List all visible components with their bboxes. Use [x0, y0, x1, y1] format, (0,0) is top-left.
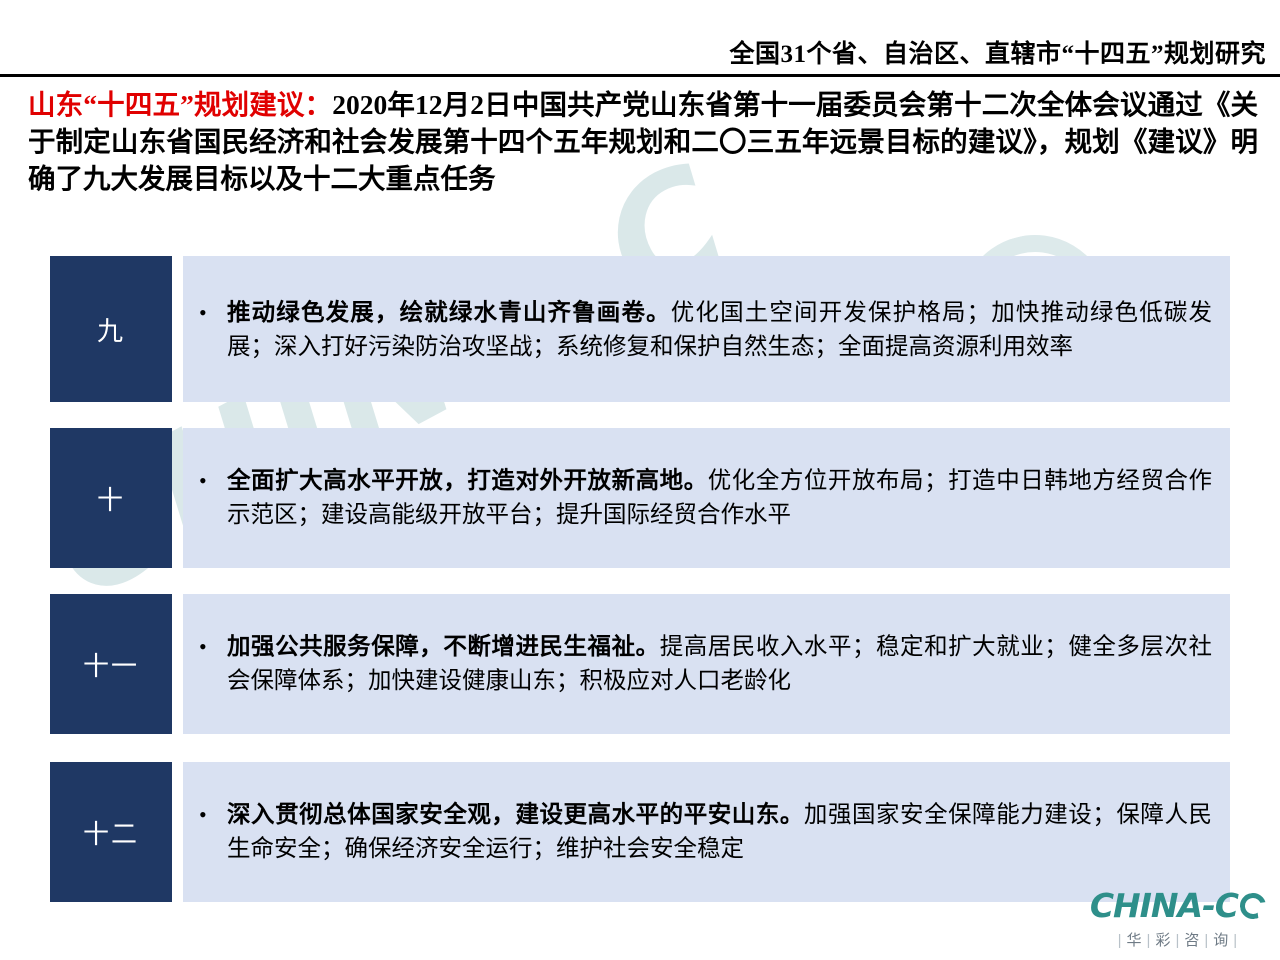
- logo-sub-3: 咨: [1184, 932, 1200, 949]
- row-text: 全面扩大高水平开放，打造对外开放新高地。优化全方位开放布局；打造中日韩地方经贸合…: [227, 464, 1212, 532]
- bullet-icon: •: [193, 798, 227, 832]
- row-content: • 推动绿色发展，绘就绿水青山齐鲁画卷。优化国土空间开发保护格局；加快推动绿色低…: [183, 256, 1230, 402]
- row-content: • 加强公共服务保障，不断增进民生福祉。提高居民收入水平；稳定和扩大就业；健全多…: [183, 594, 1230, 734]
- row-number-badge: 十一: [50, 594, 172, 734]
- row-content: • 深入贯彻总体国家安全观，建设更高水平的平安山东。加强国家安全保障能力建设；保…: [183, 762, 1230, 902]
- page-title-highlight: 山东“十四五”规划建议：: [28, 89, 332, 120]
- list-item[interactable]: 九 • 推动绿色发展，绘就绿水青山齐鲁画卷。优化国土空间开发保护格局；加快推动绿…: [50, 256, 1230, 402]
- bullet-icon: •: [193, 296, 227, 330]
- list-item[interactable]: 十 • 全面扩大高水平开放，打造对外开放新高地。优化全方位开放布局；打造中日韩地…: [50, 428, 1230, 568]
- bullet-icon: •: [193, 464, 227, 498]
- list-item[interactable]: 十一 • 加强公共服务保障，不断增进民生福祉。提高居民收入水平；稳定和扩大就业；…: [50, 594, 1230, 734]
- row-text: 深入贯彻总体国家安全观，建设更高水平的平安山东。加强国家安全保障能力建设；保障人…: [227, 798, 1212, 866]
- logo-sub-2: 彩: [1155, 932, 1171, 949]
- logo-ring-icon: [1238, 891, 1267, 920]
- row-text: 推动绿色发展，绘就绿水青山齐鲁画卷。优化国土空间开发保护格局；加快推动绿色低碳发…: [227, 296, 1212, 364]
- company-logo: CHINA-C |华|彩|咨|询|: [1090, 889, 1266, 950]
- row-heading: 推动绿色发展，绘就绿水青山齐鲁画卷。: [227, 300, 671, 326]
- header-divider: [0, 74, 1280, 77]
- logo-text: CHINA-C: [1090, 889, 1238, 922]
- row-text: 加强公共服务保障，不断增进民生福祉。提高居民收入水平；稳定和扩大就业；健全多层次…: [227, 630, 1212, 698]
- header-title: 全国31个省、自治区、直辖市“十四五”规划研究: [729, 34, 1266, 70]
- row-number-badge: 九: [50, 256, 172, 402]
- slide: CHINA-C 全国31个省、自治区、直辖市“十四五”规划研究 山东“十四五”规…: [0, 0, 1280, 960]
- row-number-badge: 十二: [50, 762, 172, 902]
- row-heading: 加强公共服务保障，不断增进民生福祉。: [227, 634, 660, 660]
- row-content: • 全面扩大高水平开放，打造对外开放新高地。优化全方位开放布局；打造中日韩地方经…: [183, 428, 1230, 568]
- header: 全国31个省、自治区、直辖市“十四五”规划研究: [729, 34, 1266, 70]
- logo-sub-1: 华: [1127, 932, 1143, 949]
- row-heading: 全面扩大高水平开放，打造对外开放新高地。: [227, 468, 708, 494]
- logo-wordmark: CHINA-C: [1090, 889, 1266, 922]
- bullet-icon: •: [193, 630, 227, 664]
- logo-sub-4: 询: [1213, 932, 1229, 949]
- logo-subtitle: |华|彩|咨|询|: [1090, 929, 1266, 950]
- list-item[interactable]: 十二 • 深入贯彻总体国家安全观，建设更高水平的平安山东。加强国家安全保障能力建…: [50, 762, 1230, 902]
- row-number-badge: 十: [50, 428, 172, 568]
- page-title: 山东“十四五”规划建议：2020年12月2日中国共产党山东省第十一届委员会第十二…: [28, 86, 1258, 197]
- row-heading: 深入贯彻总体国家安全观，建设更高水平的平安山东。: [227, 802, 804, 828]
